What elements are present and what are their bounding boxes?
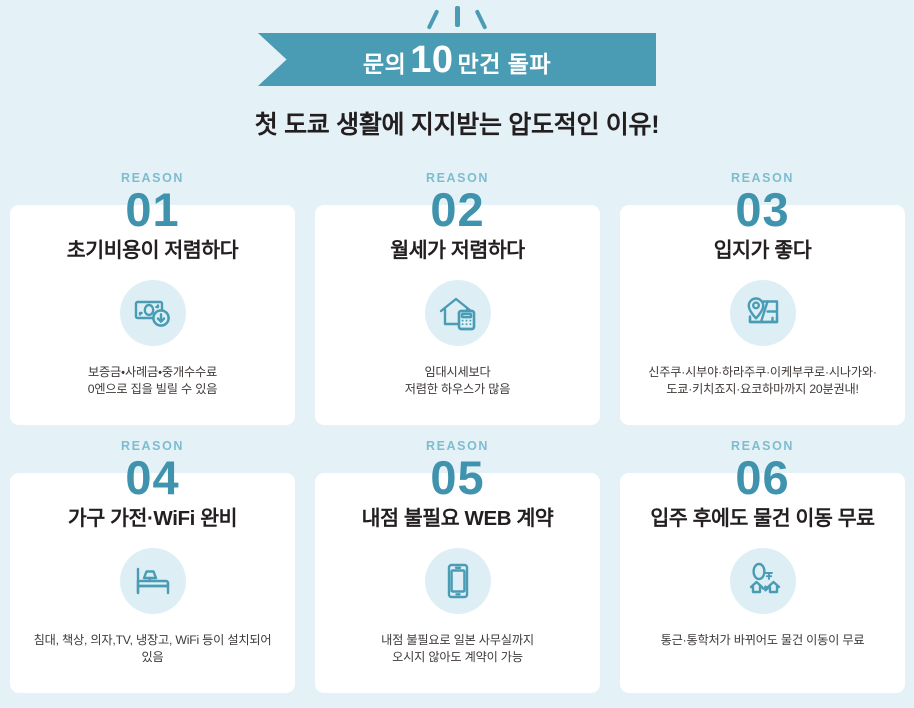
map-pin-icon bbox=[730, 280, 796, 346]
reason-desc-line1-01: 보증금・사례금・중개수수료 bbox=[88, 364, 217, 382]
reason-card-body-06: 입주 후에도 물건 이동 무료 통근·통학처가 바뀌어도 물건 이동이 무 bbox=[620, 473, 905, 693]
reason-desc-line2-05: 오시지 않아도 계약이 가능 bbox=[381, 649, 534, 667]
reason-desc-05: 내점 불필요로 일본 사무실까지 오시지 않아도 계약이 가능 bbox=[369, 632, 546, 667]
reason-desc-line1-05: 내점 불필요로 일본 사무실까지 bbox=[381, 632, 534, 650]
reason-card-body-05: 내점 불필요 WEB 계약 내점 불필요로 일본 사무실까지 오시지 않아도 계… bbox=[315, 473, 600, 693]
ribbon-text: 문의 10 만건 돌파 bbox=[363, 41, 551, 79]
house-calculator-icon bbox=[425, 280, 491, 346]
ribbon-banner: 문의 10 만건 돌파 bbox=[258, 33, 656, 86]
reason-cell-03: REASON 03 입지가 좋다 신주쿠·시부야·하라주쿠·이케부쿠로·시나가와… bbox=[620, 172, 905, 425]
reason-cell-05: REASON 05 내점 불필요 WEB 계약 내점 불필요로 일본 사무실까지… bbox=[315, 440, 600, 693]
ribbon-prefix: 문의 bbox=[363, 45, 406, 79]
reason-title-05: 내점 불필요 WEB 계약 bbox=[362, 507, 554, 532]
reason-cell-01: REASON 01 초기비용이 저렴하다 보증금・사례 bbox=[10, 172, 295, 425]
reason-kicker-04: REASON bbox=[10, 440, 295, 453]
reasons-grid: REASON 01 초기비용이 저렴하다 보증금・사례 bbox=[10, 172, 904, 708]
reason-title-04: 가구 가전·WiFi 완비 bbox=[68, 507, 237, 532]
reason-cell-02: REASON 02 월세가 저렴하다 bbox=[315, 172, 600, 425]
ribbon-suffix: 만건 돌파 bbox=[458, 45, 552, 79]
reason-cell-04: REASON 04 가구 가전·WiFi 완비 침대, 책상, 의자,TV, 냉… bbox=[10, 440, 295, 693]
reason-kicker-02: REASON bbox=[315, 172, 600, 185]
reason-card-body-02: 월세가 저렴하다 임대시세보다 bbox=[315, 205, 600, 425]
reason-kicker-06: REASON bbox=[620, 440, 905, 453]
banknote-download-icon bbox=[120, 280, 186, 346]
reason-desc-line2-01: 0엔으로 집을 빌릴 수 있음 bbox=[88, 381, 217, 399]
zero-yen-moving-icon bbox=[730, 548, 796, 614]
sparkle-left-icon bbox=[427, 9, 440, 30]
reason-desc-06: 통근·통학처가 바뀌어도 물건 이동이 무료 bbox=[649, 632, 877, 650]
reason-card-body-03: 입지가 좋다 신주쿠·시부야·하라주쿠·이케부쿠로·시나가와· 도쿄·키치죠지·… bbox=[620, 205, 905, 425]
reason-desc-line2-03: 도쿄·키치죠지·요코하마까지 20분권내! bbox=[648, 381, 877, 399]
bed-icon bbox=[120, 548, 186, 614]
reason-desc-line1-03: 신주쿠·시부야·하라주쿠·이케부쿠로·시나가와· bbox=[648, 364, 877, 382]
reason-desc-01: 보증금・사례금・중개수수료 0엔으로 집을 빌릴 수 있음 bbox=[76, 364, 229, 399]
sparkle-center-icon bbox=[455, 6, 460, 27]
reason-title-01: 초기비용이 저렴하다 bbox=[67, 239, 238, 264]
reason-title-06: 입주 후에도 물건 이동 무료 bbox=[650, 507, 874, 532]
reason-desc-line2-04: 있음 bbox=[34, 649, 272, 667]
sparkle-group bbox=[412, 6, 502, 32]
reason-desc-line1-06: 통근·통학처가 바뀌어도 물건 이동이 무료 bbox=[661, 632, 865, 650]
reason-desc-line2-02: 저렴한 하우스가 많음 bbox=[405, 381, 511, 399]
reason-title-02: 월세가 저렴하다 bbox=[390, 239, 525, 264]
reason-title-03: 입지가 좋다 bbox=[714, 239, 812, 264]
reason-cell-06: REASON 06 입주 후에도 물건 이동 무료 bbox=[620, 440, 905, 693]
sparkle-right-icon bbox=[475, 9, 488, 30]
ribbon-number: 10 bbox=[408, 41, 455, 79]
reason-kicker-01: REASON bbox=[10, 172, 295, 185]
reason-kicker-03: REASON bbox=[620, 172, 905, 185]
reason-desc-02: 임대시세보다 저렴한 하우스가 많음 bbox=[393, 364, 523, 399]
reason-desc-line1-02: 임대시세보다 bbox=[405, 364, 511, 382]
banner-section: 문의 10 만건 돌파 bbox=[0, 0, 914, 95]
reason-card-body-04: 가구 가전·WiFi 완비 침대, 책상, 의자,TV, 냉장고, WiFi 등… bbox=[10, 473, 295, 693]
reason-desc-03: 신주쿠·시부야·하라주쿠·이케부쿠로·시나가와· 도쿄·키치죠지·요코하마까지 … bbox=[636, 364, 889, 399]
page-subtitle: 첫 도쿄 생활에 지지받는 압도적인 이유! bbox=[0, 105, 914, 141]
reason-desc-04: 침대, 책상, 의자,TV, 냉장고, WiFi 등이 설치되어 있음 bbox=[22, 632, 284, 667]
smartphone-icon bbox=[425, 548, 491, 614]
reason-card-body-01: 초기비용이 저렴하다 보증금・사례금・중개수수료 0엔으로 집을 빌릴 수 있음 bbox=[10, 205, 295, 425]
reason-kicker-05: REASON bbox=[315, 440, 600, 453]
reason-desc-line1-04: 침대, 책상, 의자,TV, 냉장고, WiFi 등이 설치되어 bbox=[34, 632, 272, 650]
